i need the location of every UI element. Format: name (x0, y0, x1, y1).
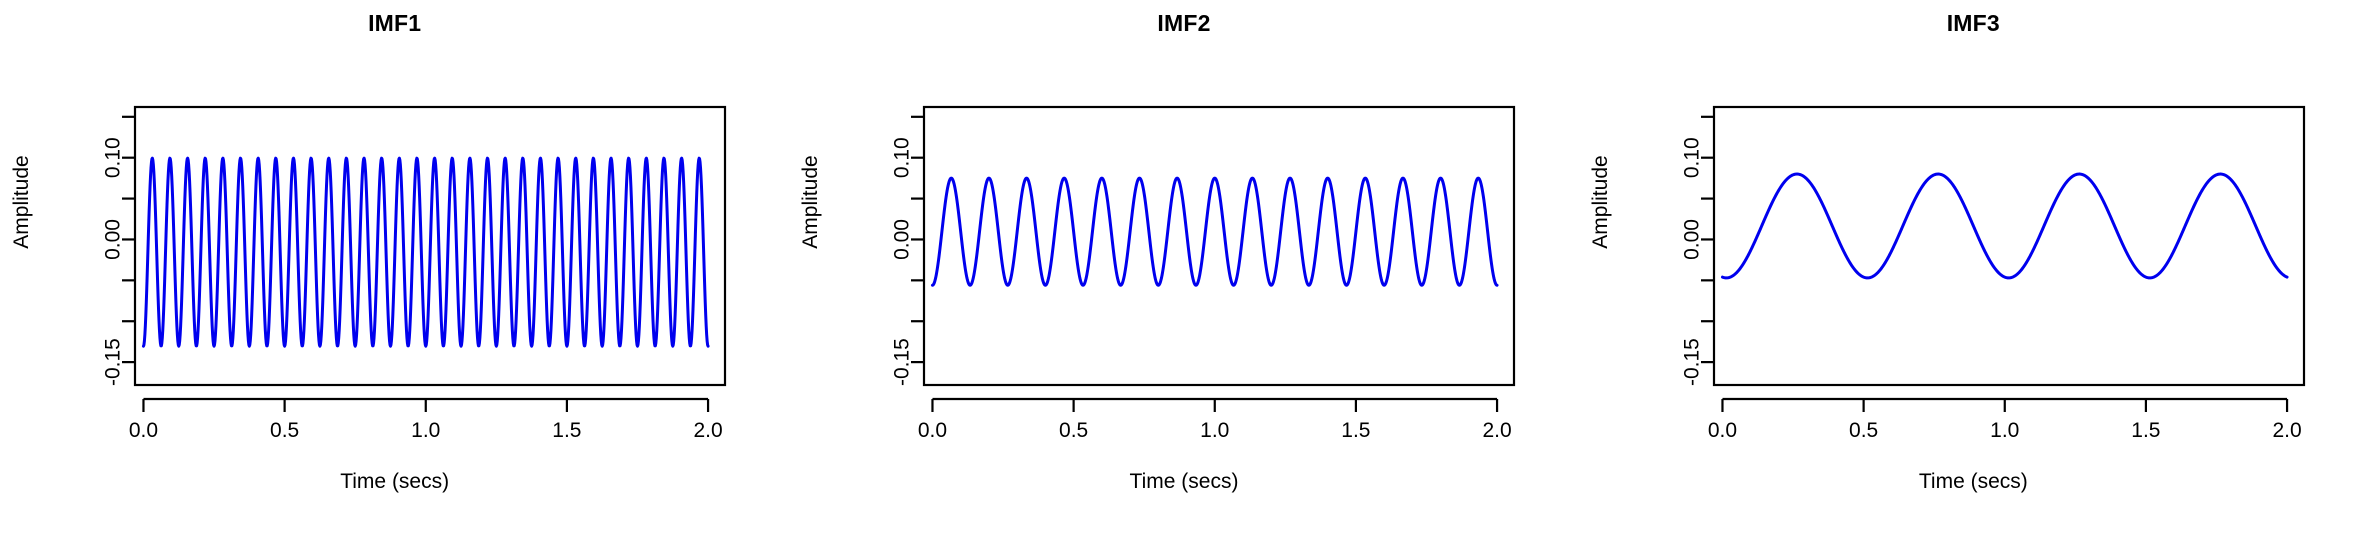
waveform-line (1722, 174, 2287, 278)
y-axis-tick-label: -0.15 (891, 338, 914, 386)
plot-area: 0.100.00-0.150.00.51.01.52.0 (1579, 0, 2368, 544)
y-axis-tick-label: -0.15 (1680, 338, 1703, 386)
x-axis-tick-label: 1.5 (552, 419, 581, 442)
x-axis-title: Time (secs) (0, 470, 789, 494)
y-axis-tick-label: -0.15 (102, 338, 125, 386)
waveform-line (143, 158, 708, 346)
plot-box-border (1714, 107, 2304, 385)
y-axis-tick-label: 0.00 (102, 219, 125, 260)
plot-panel-1: IMF10.100.00-0.150.00.51.01.52.0Time (se… (0, 0, 789, 544)
x-axis-title: Time (secs) (789, 470, 1578, 494)
y-axis-tick-label: 0.00 (1680, 219, 1703, 260)
y-axis-tick-label: 0.00 (891, 219, 914, 260)
x-axis-tick-label: 0.0 (918, 419, 947, 442)
x-axis-tick-label: 2.0 (2272, 419, 2301, 442)
plot-panel-3: IMF30.100.00-0.150.00.51.01.52.0Time (se… (1579, 0, 2368, 544)
x-axis-tick-label: 0.5 (1059, 419, 1088, 442)
x-axis-tick-label: 1.5 (1342, 419, 1371, 442)
x-axis-tick-label: 1.5 (2131, 419, 2160, 442)
x-axis-tick-label: 2.0 (693, 419, 722, 442)
x-axis-tick-label: 0.5 (270, 419, 299, 442)
y-axis-title: Amplitude (799, 92, 823, 312)
plot-box-border (924, 107, 1514, 385)
plot-panel-2: IMF20.100.00-0.150.00.51.01.52.0Time (se… (789, 0, 1578, 544)
imf-figure: IMF10.100.00-0.150.00.51.01.52.0Time (se… (0, 0, 2368, 544)
x-axis-tick-label: 0.5 (1849, 419, 1878, 442)
x-axis-tick-label: 1.0 (1990, 419, 2019, 442)
x-axis-tick-label: 1.0 (411, 419, 440, 442)
x-axis-tick-label: 2.0 (1483, 419, 1512, 442)
x-axis-tick-label: 1.0 (1200, 419, 1229, 442)
plot-area: 0.100.00-0.150.00.51.01.52.0 (789, 0, 1578, 544)
y-axis-tick-label: 0.10 (1680, 137, 1703, 178)
waveform-line (933, 178, 1498, 285)
x-axis-tick-label: 0.0 (129, 419, 158, 442)
y-axis-tick-label: 0.10 (891, 137, 914, 178)
x-axis-tick-label: 0.0 (1708, 419, 1737, 442)
x-axis-title: Time (secs) (1579, 470, 2368, 494)
y-axis-tick-label: 0.10 (102, 137, 125, 178)
y-axis-title: Amplitude (1589, 92, 1613, 312)
plot-area: 0.100.00-0.150.00.51.01.52.0 (0, 0, 789, 544)
y-axis-title: Amplitude (10, 92, 34, 312)
